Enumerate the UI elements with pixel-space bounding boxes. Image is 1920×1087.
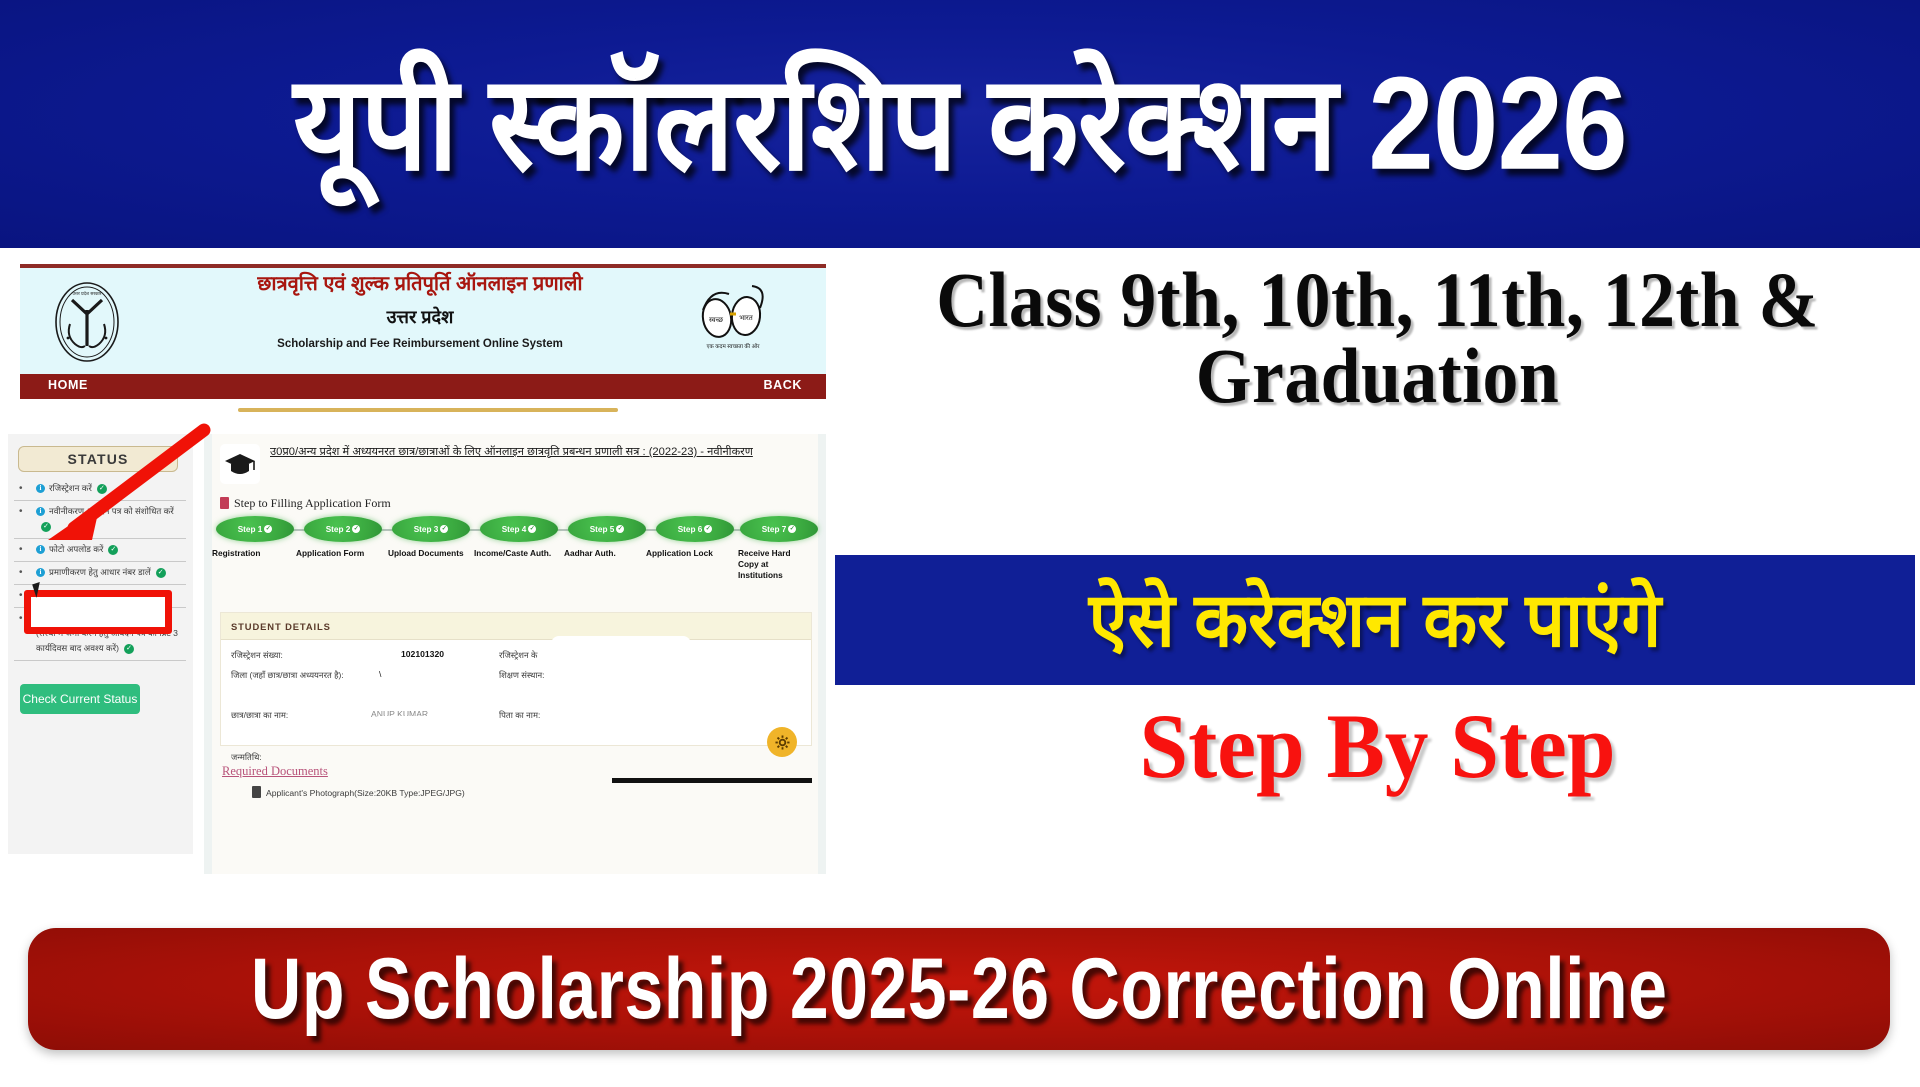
blue-callout-box: ऐसे करेक्शन कर पाएंगे	[835, 555, 1915, 685]
field-label: जिला (जहाँ छात्र/छात्रा अध्ययनरत है):	[231, 670, 344, 681]
gold-divider	[238, 408, 618, 412]
portal-subtitle-english: Scholarship and Fee Reimbursement Online…	[140, 338, 700, 350]
check-current-status-button[interactable]: Check Current Status	[20, 684, 140, 714]
redaction-mark	[393, 664, 489, 680]
portal-titles: छात्रवृत्ति एवं शुल्क प्रतिपूर्ति ऑनलाइन…	[140, 274, 700, 350]
table-row: जिला (जहाँ छात्र/छात्रा अध्ययनरत है): \ …	[221, 666, 811, 686]
check-icon: ✓	[352, 525, 360, 533]
step-label-2: Application Form	[296, 548, 388, 559]
student-details-card: STUDENT DETAILS रजिस्ट्रेशन संख्या: 1021…	[220, 612, 812, 746]
step-node-4[interactable]: Step 4✓	[480, 516, 558, 542]
step-label-7: Receive Hard Copy at Institutions	[738, 548, 810, 582]
redaction-mark	[371, 716, 441, 734]
field-value: \	[379, 669, 381, 679]
portal-state-hindi: उत्तर प्रदेश	[140, 305, 700, 329]
uttar-pradesh-state-emblem-icon: उत्तर प्रदेश सरकार	[52, 280, 122, 364]
portal-title-hindi: छात्रवृत्ति एवं शुल्क प्रतिपूर्ति ऑनलाइन…	[140, 274, 700, 295]
nav-home-link[interactable]: HOME	[48, 378, 88, 392]
highlighted-status-item[interactable]: iआवेदन पत्र को संशोधित करें✓	[16, 596, 176, 642]
field-value: 102101320	[401, 649, 444, 659]
svg-text:स्वच्छ: स्वच्छ	[709, 316, 724, 324]
step-by-step-headline: Step By Step	[867, 700, 1888, 792]
check-icon: ✓	[440, 525, 448, 533]
red-highlight-box	[24, 590, 172, 634]
field-label: रजिस्ट्रेशन संख्या:	[231, 650, 283, 661]
bottom-title-banner: Up Scholarship 2025-26 Correction Online	[28, 928, 1890, 1050]
bottom-banner-text: Up Scholarship 2025-26 Correction Online	[251, 946, 1668, 1032]
spectacles-logo-icon: स्वच्छ भारत	[696, 278, 770, 348]
application-content-panel: उ0प्र0/अन्य प्रदेश में अध्ययनरत छात्र/छा…	[204, 434, 826, 874]
step-node-5[interactable]: Step 5✓	[568, 516, 646, 542]
table-row: छात्र/छात्रा का नाम: ANUP KUMAR पिता का …	[221, 706, 811, 726]
field-label: शिक्षण संस्थान:	[499, 670, 545, 681]
field-label: छात्र/छात्रा का नाम:	[231, 710, 288, 721]
info-icon: i	[36, 568, 45, 577]
step-label-4: Income/Caste Auth.	[474, 548, 554, 559]
status-item-label: प्रमाणीकरण हेतु आधार नंबर डालें	[49, 567, 151, 577]
step-node-7[interactable]: Step 7✓	[740, 516, 818, 542]
step-label-6: Application Lock	[646, 548, 742, 559]
top-banner-title: यूपी स्कॉलरशिप करेक्शन 2026	[293, 58, 1626, 190]
required-documents-first-item: Applicant's Photograph(Size:20KB Type:JP…	[252, 786, 465, 798]
field-label: जन्मतिथि:	[231, 752, 262, 763]
step-label-5: Aadhar Auth.	[564, 548, 648, 559]
check-icon: ✓	[788, 525, 796, 533]
nav-back-link[interactable]: BACK	[763, 378, 802, 392]
check-icon: ✓	[528, 525, 536, 533]
embedded-screenshot: उत्तर प्रदेश सरकार छात्रवृत्ति एवं शुल्क…	[8, 256, 826, 874]
portal-site-header: उत्तर प्रदेश सरकार छात्रवृत्ति एवं शुल्क…	[20, 264, 826, 378]
redaction-mark	[551, 636, 691, 652]
check-icon: ✓	[156, 568, 166, 578]
redaction-mark	[621, 706, 741, 722]
check-icon: ✓	[704, 525, 712, 533]
field-label: रजिस्ट्रेशन के	[499, 650, 537, 661]
svg-text:उत्तर प्रदेश सरकार: उत्तर प्रदेश सरकार	[73, 291, 102, 297]
class-list-headline: Class 9th, 10th, 11th, 12th & Graduation	[883, 262, 1872, 415]
blue-callout-text: ऐसे करेक्शन कर पाएंगे	[1089, 582, 1661, 658]
step-node-6[interactable]: Step 6✓	[656, 516, 734, 542]
redaction-mark	[571, 672, 807, 694]
red-annotation-arrow-icon	[8, 416, 268, 556]
step-node-3[interactable]: Step 3✓	[392, 516, 470, 542]
check-icon: ✓	[616, 525, 624, 533]
check-icon: ✓	[124, 644, 134, 654]
settings-gear-icon[interactable]	[767, 727, 797, 757]
application-page-heading: उ0प्र0/अन्य प्रदेश में अध्ययनरत छात्र/छा…	[270, 444, 810, 461]
application-steps-flow: Step 1✓ Step 2✓ Step 3✓ Step 4✓ Step 5✓ …	[216, 516, 816, 542]
field-label: पिता का नाम:	[499, 710, 540, 721]
top-title-banner: यूपी स्कॉलरशिप करेक्शन 2026	[0, 0, 1920, 248]
svg-text:भारत: भारत	[739, 314, 754, 322]
required-documents-title: Required Documents	[222, 764, 328, 779]
black-redaction-bar	[612, 778, 812, 783]
spectacles-caption: एक कदम स्वच्छता की ओर	[684, 342, 782, 350]
student-details-header: STUDENT DETAILS	[221, 613, 811, 640]
redaction-mark	[629, 652, 807, 670]
file-icon	[252, 786, 261, 798]
step-node-2[interactable]: Step 2✓	[304, 516, 382, 542]
step-label-3: Upload Documents	[388, 548, 466, 559]
portal-navbar: HOME BACK	[20, 374, 826, 399]
